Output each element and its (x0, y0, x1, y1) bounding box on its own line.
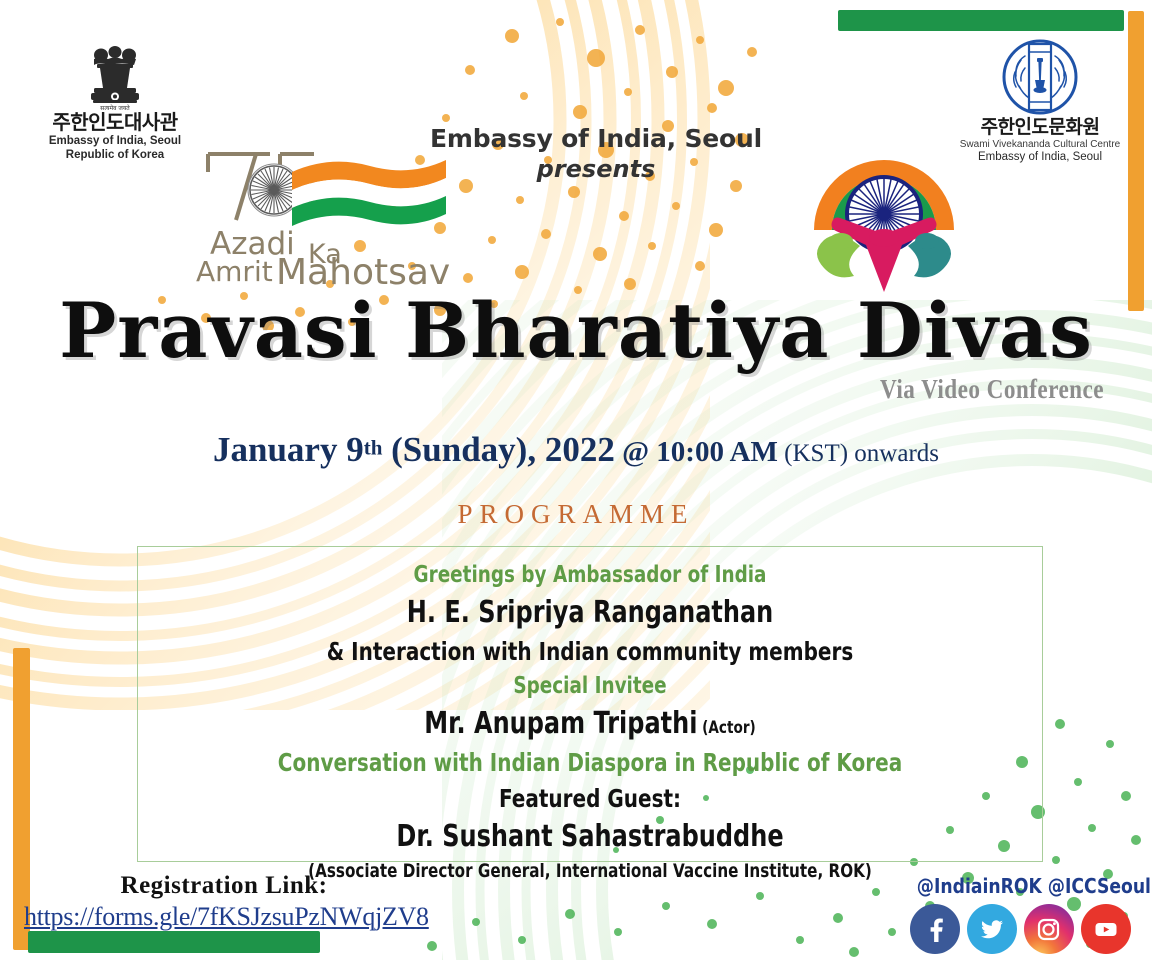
icc-seal-icon (1001, 38, 1079, 116)
presents-block: Embassy of India, Seoul presents (400, 124, 792, 183)
instagram-icon[interactable] (1024, 904, 1074, 954)
programme-item-featured-guest-label: Featured Guest: (228, 781, 951, 817)
programme-box: Greetings by Ambassador of India H. E. S… (137, 546, 1043, 862)
orange-accent-bar-right (1128, 11, 1144, 311)
social-block: @IndiainROK @ICCSeoul (900, 874, 1140, 954)
programme-item-ambassador: H. E. Sripriya Ranganathan (228, 592, 951, 634)
programme-item-conversation: Conversation with Indian Diaspora in Rep… (228, 745, 951, 781)
instagram-camera-glyph-icon (1035, 916, 1062, 943)
programme-item-invitee-name: Mr. Anupam Tripathi (Actor) (228, 703, 951, 745)
social-icon-row (900, 904, 1140, 954)
facebook-glyph-icon (922, 916, 948, 942)
event-time: @ 10:00 AM (615, 436, 778, 468)
icc-english-line2: Embassy of India, Seoul (950, 151, 1130, 165)
presenter-name: Embassy of India, Seoul (400, 124, 792, 153)
page-title: Pravasi Bharatiya Divas (0, 286, 1152, 375)
pravasi-bharatiya-divas-emblem-icon (800, 126, 968, 294)
programme-heading: PROGRAMME (0, 499, 1152, 530)
emblem-motto-text: सत्यमेव जयते (100, 104, 130, 112)
twitter-icon[interactable] (967, 904, 1017, 954)
programme-item-special-invitee: Special Invitee (228, 670, 951, 703)
poster-canvas: सत्यमेव जयते 주한인도대사관 Embassy of India, S… (0, 0, 1152, 960)
registration-label: Registration Link: (24, 872, 424, 900)
embassy-of-india-logo: सत्यमेव जयते 주한인도대사관 Embassy of India, S… (20, 42, 210, 162)
presents-word: presents (400, 155, 792, 183)
event-date-monthday: January 9 (213, 430, 364, 469)
invitee-name: Mr. Anupam Tripathi (424, 706, 697, 741)
embassy-english-line1: Embassy of India, Seoul (20, 135, 210, 148)
azadi-word-amrit: Amrit (196, 255, 273, 288)
youtube-play-glyph-icon (1092, 915, 1120, 943)
ashoka-emblem-icon: सत्यमेव जयते (84, 42, 146, 112)
event-date-ordinal: th (364, 436, 383, 460)
invitee-role: (Actor) (697, 718, 755, 738)
embassy-korean-name: 주한인도대사관 (20, 113, 210, 134)
social-handles: @IndiainROK @ICCSeoul (917, 874, 1123, 898)
youtube-icon[interactable] (1081, 904, 1131, 954)
title-subtitle: Via Video Conference (155, 374, 1104, 405)
programme-item-greetings: Greetings by Ambassador of India (228, 559, 951, 592)
registration-link[interactable]: https://forms.gle/7fKSJzsuPzNWqjZV8 (24, 902, 424, 932)
twitter-bird-glyph-icon (978, 915, 1006, 943)
event-timezone: (KST) onwards (778, 440, 939, 467)
green-accent-bar-top (838, 10, 1124, 31)
icc-korean-name: 주한인도문화원 (950, 118, 1130, 138)
registration-block: Registration Link: https://forms.gle/7fK… (24, 872, 424, 932)
facebook-icon[interactable] (910, 904, 960, 954)
programme-item-interaction: & Interaction with Indian community memb… (228, 634, 951, 670)
icc-seoul-logo: 주한인도문화원 Swami Vivekananda Cultural Centr… (950, 38, 1130, 165)
event-date-weekday-year: (Sunday), 2022 (382, 430, 614, 469)
embassy-english-line2: Republic of Korea (20, 149, 210, 162)
icc-english-line1: Swami Vivekananda Cultural Centre (950, 139, 1130, 151)
event-datetime: January 9th (Sunday), 2022 @ 10:00 AM (K… (0, 430, 1152, 470)
programme-item-guest-name: Dr. Sushant Sahastrabuddhe (228, 816, 951, 858)
green-accent-bar-bottom (28, 931, 320, 953)
